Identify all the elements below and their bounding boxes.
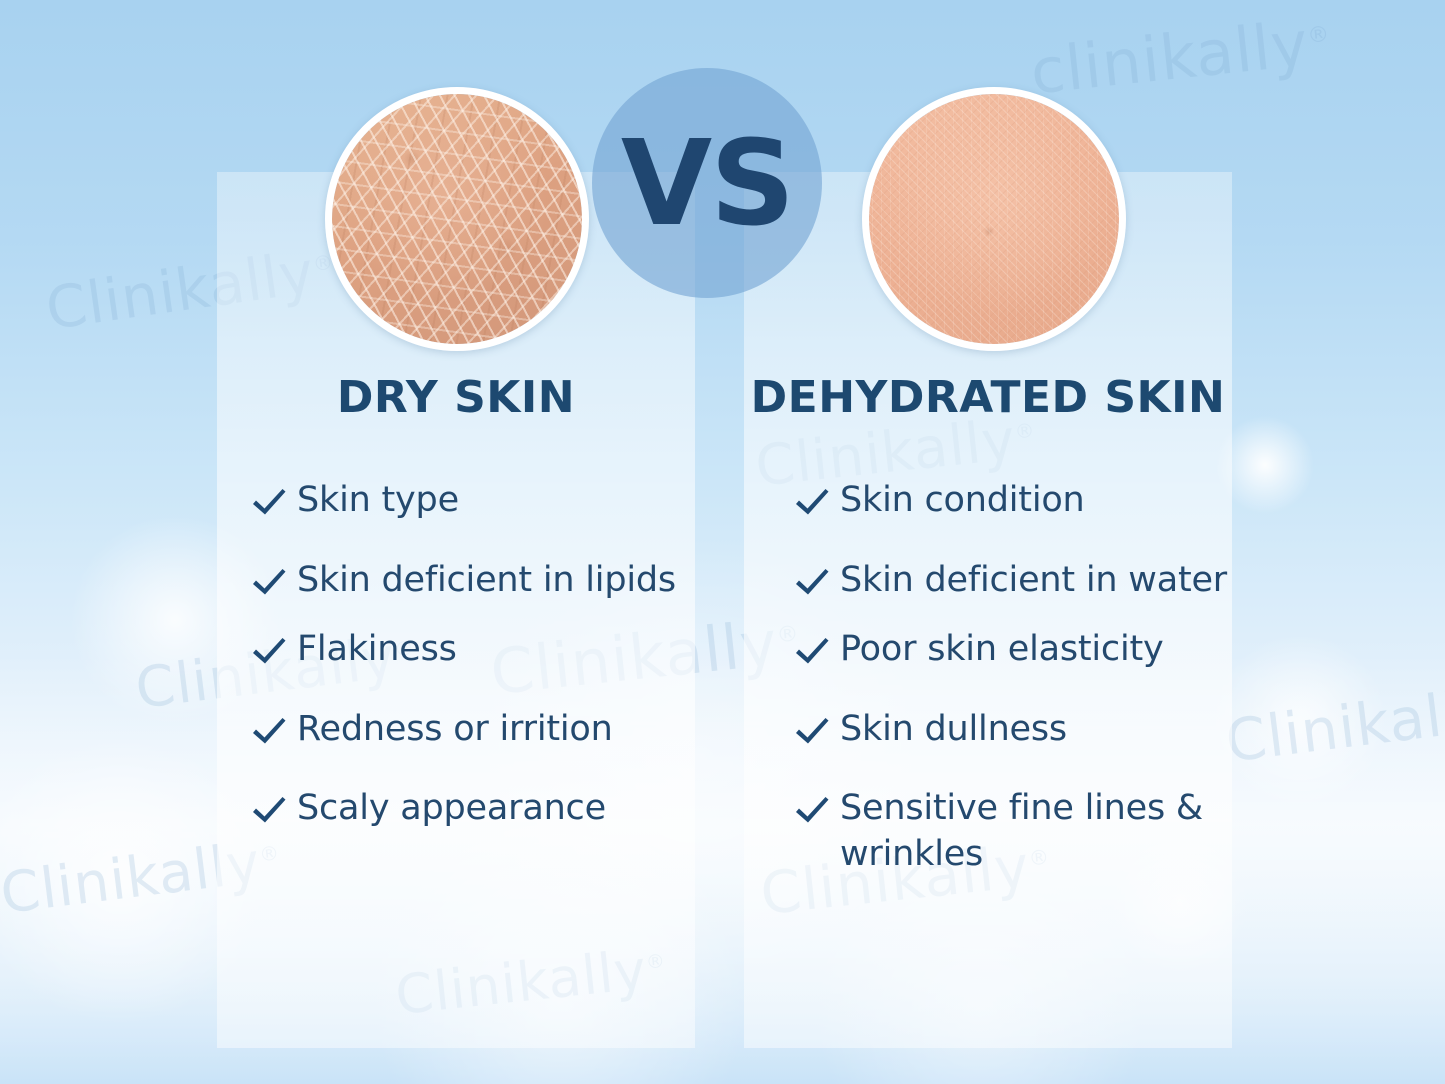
feature-item: Poor skin elasticity: [792, 627, 1232, 673]
check-icon: [249, 791, 289, 831]
feature-item: Skin deficient in water: [792, 558, 1232, 604]
feature-list-dehydrated-skin: Skin conditionSkin deficient in waterPoo…: [792, 478, 1232, 901]
feature-label: Skin dullness: [840, 707, 1067, 753]
feature-label: Scaly appearance: [297, 786, 606, 832]
check-icon: [249, 563, 289, 603]
feature-item: Skin deficient in lipids: [249, 558, 679, 604]
check-icon: [249, 483, 289, 523]
dehydrated-skin-texture: [869, 94, 1119, 344]
dry-skin-photo: [325, 87, 589, 351]
feature-label: Flakiness: [297, 627, 457, 673]
vs-badge: VS: [592, 68, 822, 298]
feature-label: Redness or irrition: [297, 707, 613, 753]
check-icon: [249, 712, 289, 752]
check-icon: [792, 563, 832, 603]
feature-item: Skin condition: [792, 478, 1232, 524]
feature-item: Sensitive fine lines & wrinkles: [792, 786, 1232, 877]
heading-dehydrated-skin: DEHYDRATED SKIN: [744, 372, 1232, 423]
feature-item: Redness or irrition: [249, 707, 679, 753]
feature-label: Skin deficient in water: [840, 558, 1227, 604]
check-icon: [792, 632, 832, 672]
check-icon: [249, 632, 289, 672]
feature-list-dry-skin: Skin typeSkin deficient in lipidsFlakine…: [249, 478, 679, 866]
feature-label: Poor skin elasticity: [840, 627, 1164, 673]
feature-label: Skin deficient in lipids: [297, 558, 676, 604]
vs-label: VS: [621, 124, 793, 242]
check-icon: [792, 483, 832, 523]
feature-item: Skin dullness: [792, 707, 1232, 753]
heading-dry-skin: DRY SKIN: [217, 372, 695, 423]
feature-label: Sensitive fine lines & wrinkles: [840, 786, 1232, 877]
dry-skin-texture: [332, 94, 582, 344]
check-icon: [792, 712, 832, 752]
feature-label: Skin condition: [840, 478, 1085, 524]
feature-item: Scaly appearance: [249, 786, 679, 832]
feature-item: Skin type: [249, 478, 679, 524]
feature-item: Flakiness: [249, 627, 679, 673]
dehydrated-skin-photo: [862, 87, 1126, 351]
infographic-canvas: Clinikally®clinikally®Clinikally®Clinika…: [0, 0, 1445, 1084]
feature-label: Skin type: [297, 478, 459, 524]
check-icon: [792, 791, 832, 831]
